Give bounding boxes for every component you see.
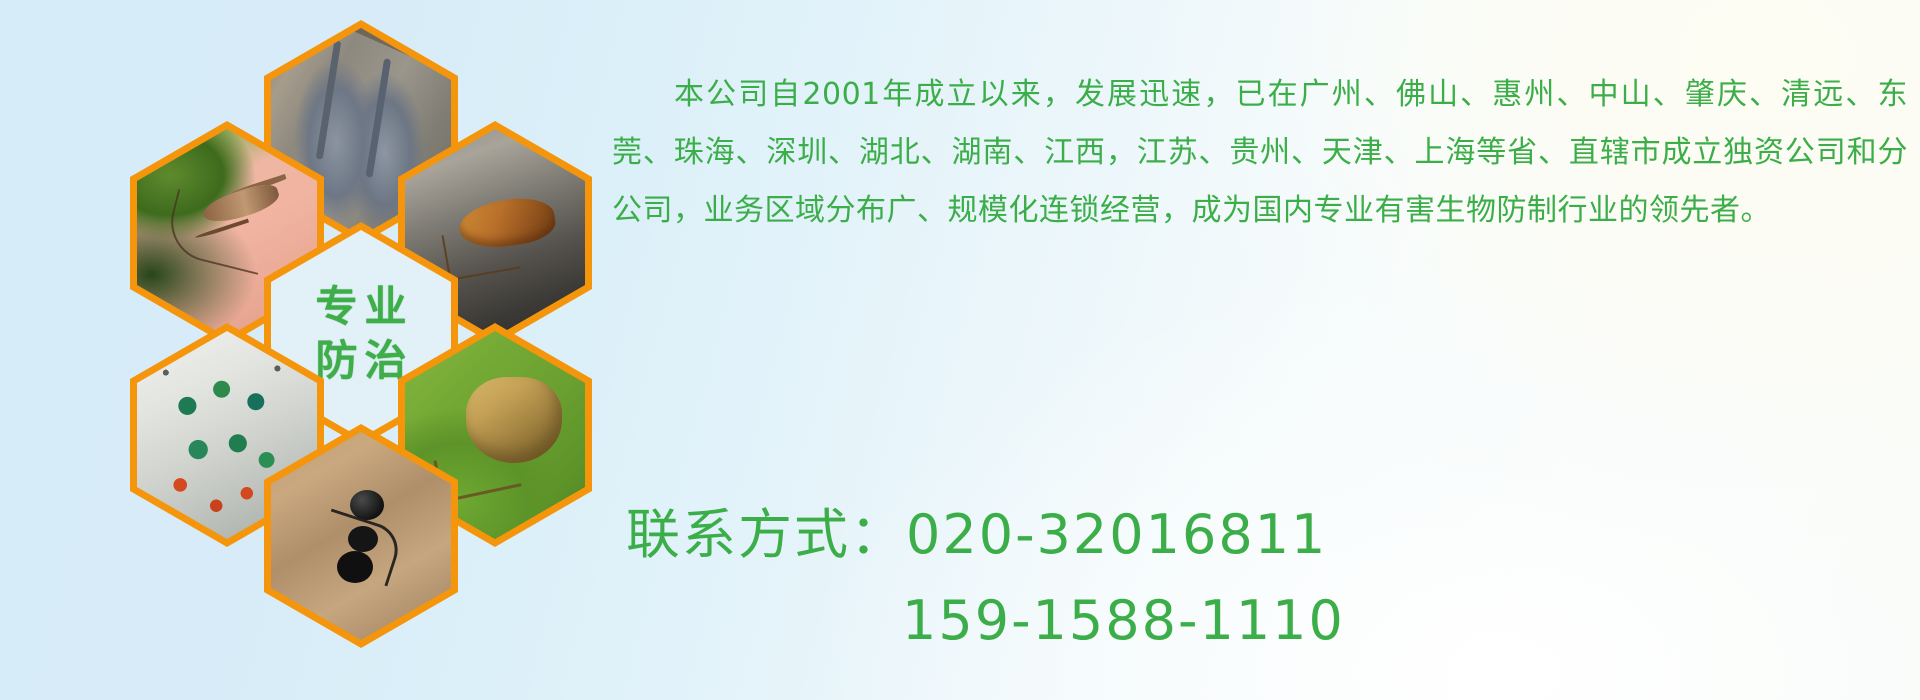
hex-title-line-1: 专业 bbox=[308, 280, 413, 334]
company-intro-paragraph: 本公司自2001年成立以来，发展迅速，已在广州、佛山、惠州、中山、肇庆、清远、东… bbox=[612, 66, 1908, 240]
hexagon-photo-cluster: 专业 防治 bbox=[88, 8, 588, 553]
promo-banner: 专业 防治 本公司自2001年成立以来，发展迅速，已在广州、佛山、惠州、中山、肇… bbox=[0, 0, 1920, 700]
banner-content: 本公司自2001年成立以来，发展迅速，已在广州、佛山、惠州、中山、肇庆、清远、东… bbox=[612, 0, 1920, 700]
contact-block: 联系方式：020-32016811 159-1588-1110 bbox=[612, 492, 1908, 664]
contact-line-secondary[interactable]: 159-1588-1110 bbox=[612, 578, 1908, 664]
ant-photo bbox=[271, 432, 451, 640]
hex-title-line-2: 防治 bbox=[308, 334, 413, 388]
contact-line-primary[interactable]: 联系方式：020-32016811 bbox=[612, 492, 1908, 578]
